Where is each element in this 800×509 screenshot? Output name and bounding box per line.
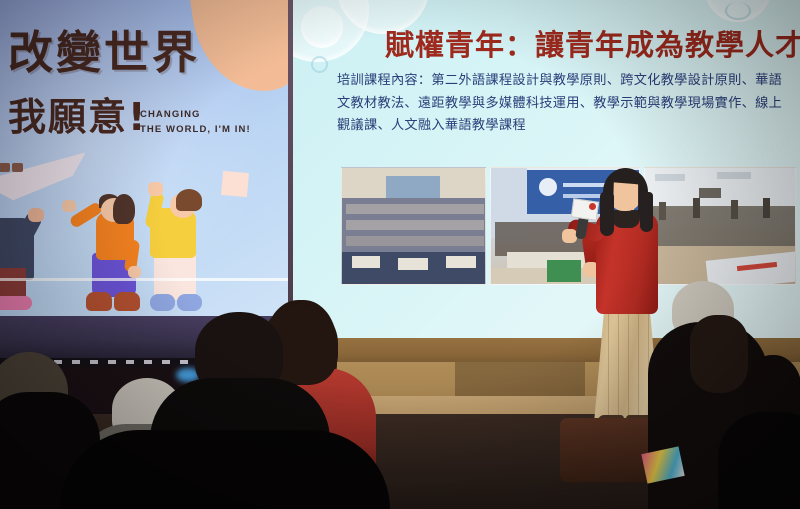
slide-title: 賦權青年：讓青年成為教學人才 bbox=[385, 22, 800, 64]
audience-silhouette-far-right-body bbox=[718, 412, 800, 509]
ph1-paper-2 bbox=[398, 258, 428, 270]
bubble-decor-6 bbox=[725, 2, 751, 20]
ph1-crowd-row1 bbox=[346, 204, 484, 214]
microphone-flag-logo bbox=[589, 203, 596, 210]
photo-classroom-hands-raised bbox=[644, 167, 796, 285]
left-projection-screen: 改變世界 我願意! CHANGING THE WORLD, I'M IN! bbox=[0, 0, 288, 316]
ph2-green-board bbox=[547, 260, 581, 282]
photo-group-lecture-hall bbox=[341, 167, 486, 285]
audience-silhouette-foreground bbox=[60, 430, 390, 509]
poster-english-line1: CHANGING bbox=[140, 108, 260, 123]
illustration-boy-pants bbox=[154, 252, 196, 300]
plane-segment-2 bbox=[0, 163, 10, 172]
plane-segment-3 bbox=[12, 163, 23, 172]
poster-headline-line1: 改變世界 bbox=[8, 30, 258, 75]
ph3-raised-hand-2 bbox=[693, 198, 700, 218]
poster-headline-line2: 我願意! bbox=[8, 98, 147, 136]
poster-english-tagline: CHANGING THE WORLD, I'M IN! bbox=[140, 108, 260, 137]
slide-body-line-3: 觀議課、人文融入華語教學課程 bbox=[337, 115, 789, 138]
poster-floating-square bbox=[221, 171, 249, 197]
presenter-hair-left-strand bbox=[600, 192, 614, 236]
slide-body-text: 培訓課程內容：第二外語課程設計與教學原則、跨文化教學設計原則、華語 文教材教法、… bbox=[337, 70, 789, 138]
ph3-raised-hand-4 bbox=[763, 198, 770, 218]
illustration-girl-shoe-right bbox=[114, 292, 140, 311]
bubble-decor-4 bbox=[311, 56, 328, 73]
ph1-paper-3 bbox=[446, 256, 476, 268]
illustration-boy-hair bbox=[176, 189, 202, 211]
ph3-ceiling-light-2 bbox=[717, 172, 751, 179]
slide-body-line-1: 培訓課程內容：第二外語課程設計與教學原則、跨文化教學設計原則、華語 bbox=[337, 70, 789, 93]
illustration-boy-shoe-right bbox=[177, 294, 202, 311]
ph3-ceiling-light-1 bbox=[655, 174, 685, 181]
bubble-decor-3 bbox=[301, 6, 343, 48]
illustration-girl-hand-raised bbox=[62, 200, 76, 212]
ph1-crowd-row3 bbox=[346, 236, 484, 246]
illustration-girl-shoe-left bbox=[86, 292, 112, 311]
ph3-raised-hand-3 bbox=[731, 200, 738, 219]
poster-ground-line bbox=[0, 278, 288, 281]
right-projection-screen: 賦權青年：讓青年成為教學人才 培訓課程內容：第二外語課程設計與教學原則、跨文化教… bbox=[293, 0, 800, 338]
presenter-hand-left bbox=[562, 229, 577, 243]
presenter-hair-right-strand bbox=[640, 192, 653, 232]
presenter-collar bbox=[612, 210, 640, 228]
illustration-boy-hand-raised bbox=[148, 182, 163, 196]
microphone-flag bbox=[571, 198, 599, 220]
screenshot-root: 改變世界 我願意! CHANGING THE WORLD, I'M IN! bbox=[0, 0, 800, 509]
illustration-girl-hair bbox=[113, 194, 135, 224]
ph3-projector bbox=[699, 188, 721, 198]
illustration-boy-shoe-left bbox=[150, 294, 175, 311]
illustration-figure-dark-hand bbox=[28, 208, 44, 222]
illustration-girl-hand-down bbox=[128, 266, 141, 278]
ph1-paper-1 bbox=[352, 256, 380, 268]
ph1-crowd-row2 bbox=[346, 220, 484, 230]
poster-english-line2: THE WORLD, I'M IN! bbox=[140, 123, 260, 138]
audience-gray-haired-right-scarf bbox=[690, 315, 748, 393]
illustration-figure-dark-shoes bbox=[0, 296, 32, 310]
ph2-banner-logo bbox=[539, 178, 557, 196]
slide-body-line-2: 文教材教法、遠距教學與多媒體科技運用、教學示範與教學現場實作、線上 bbox=[337, 93, 789, 116]
ph3-raised-hand-1 bbox=[659, 202, 666, 220]
